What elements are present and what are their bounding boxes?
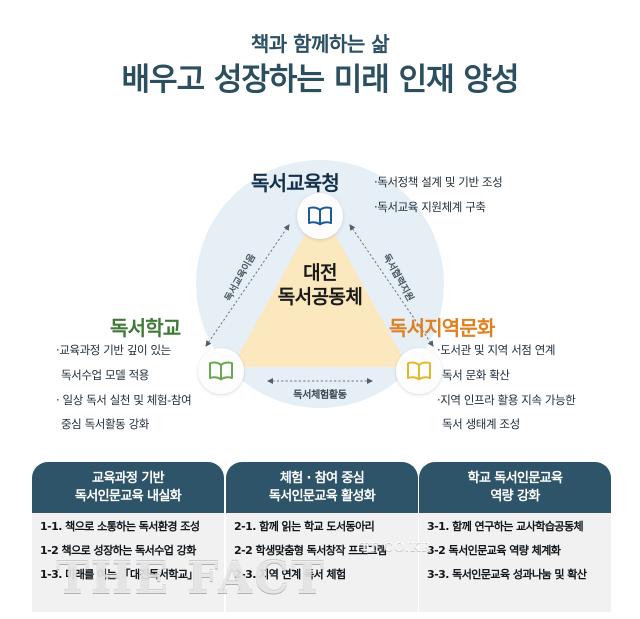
list-item: 3-3. 독서인문교육 성과나눔 및 확산 [427,568,605,583]
open-book-glyph [405,360,433,382]
panel-body: 1-1. 책으로 소통하는 독서환경 조성 1-2 책으로 성장하는 독서수업 … [32,513,224,612]
item-number: 1-2 [40,544,58,557]
header-subtitle: 책과 함께하는 삶 [0,32,640,57]
diagram-center-label: 대전 독서공동체 [248,261,392,310]
bullet-text: ·독서정책 설계 및 기반 조성 [374,174,502,192]
item-number: 3-3. [427,568,449,581]
item-text: 지역 연계 독서 체험 [259,568,345,581]
panel-body: 2-1. 함께 읽는 학교 도서동아리 2-2 학생맞춤형 독서창작 프로그램 … [226,513,418,612]
open-book-icon-top [297,193,343,239]
page-title: 배우고 성장하는 미래 인재 양성 [0,62,640,100]
item-number: 3-2 [427,544,445,557]
panel-header-line2: 역량 강화 [423,488,607,506]
node-bullets-right: ·도서관 및 지역 서점 연계 독서 문화 확산 ·지역 인프라 활용 지속 가… [437,342,575,434]
center-line-2: 독서공동체 [248,285,392,309]
list-item: 1-3. 미래를 여는 「대전독서학교」 [40,568,218,583]
list-item: 1-1. 책으로 소통하는 독서환경 조성 [40,520,218,535]
header: 책과 함께하는 삶 배우고 성장하는 미래 인재 양성 [0,32,640,100]
item-number: 2-1. [234,520,256,533]
bullet-text: ·지역 인프라 활용 지속 가능한 [437,392,575,410]
bullet-text: ·도서관 및 지역 서점 연계 [437,342,575,360]
panel-header-line2: 독서인문교육 활성화 [230,488,414,506]
item-number: 1-3. [40,568,62,581]
panel-curriculum: 교육과정 기반 독서인문교육 내실화 1-1. 책으로 소통하는 독서환경 조성… [32,462,224,612]
item-number: 2-2 [234,544,252,557]
node-title-top: 독서교육청 [251,167,339,196]
list-item: 2-1. 함께 읽는 학교 도서동아리 [234,520,412,535]
panel-header: 교육과정 기반 독서인문교육 내실화 [32,462,224,513]
item-text: 책으로 성장하는 독서수업 강화 [62,544,196,557]
bullet-text: · 일상 독서 실천 및 체험-참여 [56,392,191,410]
list-item: 2-2 학생맞춤형 독서창작 프로그램 [234,544,412,559]
list-item: 3-2 독서인문교육 역량 체계화 [427,544,605,559]
open-book-icon-right [396,348,442,394]
open-book-glyph [306,205,334,227]
panel-header-line1: 교육과정 기반 [36,470,220,488]
item-text: 독서인문교육 성과나눔 및 확산 [452,568,586,581]
item-text: 책으로 소통하는 독서환경 조성 [65,520,199,533]
item-text: 학생맞춤형 독서창작 프로그램 [256,544,387,557]
item-text: 독서인문교육 역량 체계화 [449,544,561,557]
node-bullets-top: ·독서정책 설계 및 기반 조성 ·독서교육 지원체계 구축 [374,174,502,217]
item-number: 3-1. [427,520,449,533]
list-item: 2-3. 지역 연계 독서 체험 [234,568,412,583]
bullet-text: ·교육과정 기반 깊이 있는 [56,342,191,360]
open-book-glyph [207,360,235,382]
center-line-1: 대전 [248,261,392,285]
item-text: 함께 읽는 학교 도서동아리 [259,520,374,533]
edge-label-bottom: 독서체험활동 [250,386,390,401]
panel-header: 학교 독서인문교육 역량 강화 [419,462,611,513]
triangle-diagram: 독서교육청 독서학교 독서지역문화 ·독서정책 설계 및 기반 조성 ·독서교육… [0,150,640,450]
item-text: 미래를 여는 「대전독서학교」 [65,568,198,581]
panel-experience: 체험 · 참여 중심 독서인문교육 활성화 2-1. 함께 읽는 학교 도서동아… [226,462,418,612]
strategy-panels: 교육과정 기반 독서인문교육 내실화 1-1. 책으로 소통하는 독서환경 조성… [0,462,640,610]
bullet-text: 독서수업 모델 적용 [56,367,149,385]
list-item: 3-1. 함께 연구하는 교사학습공동체 [427,520,605,535]
item-number: 2-3. [234,568,256,581]
panel-header-line1: 학교 독서인문교육 [423,470,607,488]
open-book-icon-left [198,348,244,394]
bullet-text: ·독서교육 지원체계 구축 [374,199,502,217]
panel-header-line1: 체험 · 참여 중심 [230,470,414,488]
bullet-text: 중심 독서활동 강화 [56,416,149,434]
panel-header-line2: 독서인문교육 내실화 [36,488,220,506]
infographic-root: 책과 함께하는 삶 배우고 성장하는 미래 인재 양성 [0,0,640,619]
item-number: 1-1. [40,520,62,533]
node-title-right: 독서지역문화 [389,312,495,341]
panel-body: 3-1. 함께 연구하는 교사학습공동체 3-2 독서인문교육 역량 체계화 3… [419,513,611,612]
list-item: 1-2 책으로 성장하는 독서수업 강화 [40,544,218,559]
panel-capacity: 학교 독서인문교육 역량 강화 3-1. 함께 연구하는 교사학습공동체 3-2… [419,462,611,612]
node-title-left: 독서학교 [110,312,180,341]
item-text: 함께 연구하는 교사학습공동체 [452,520,583,533]
bullet-text: 독서 문화 확산 [437,367,510,385]
bullet-text: 독서 생태계 조성 [437,416,520,434]
panel-header: 체험 · 참여 중심 독서인문교육 활성화 [226,462,418,513]
node-bullets-left: ·교육과정 기반 깊이 있는 독서수업 모델 적용 · 일상 독서 실천 및 체… [56,342,191,434]
